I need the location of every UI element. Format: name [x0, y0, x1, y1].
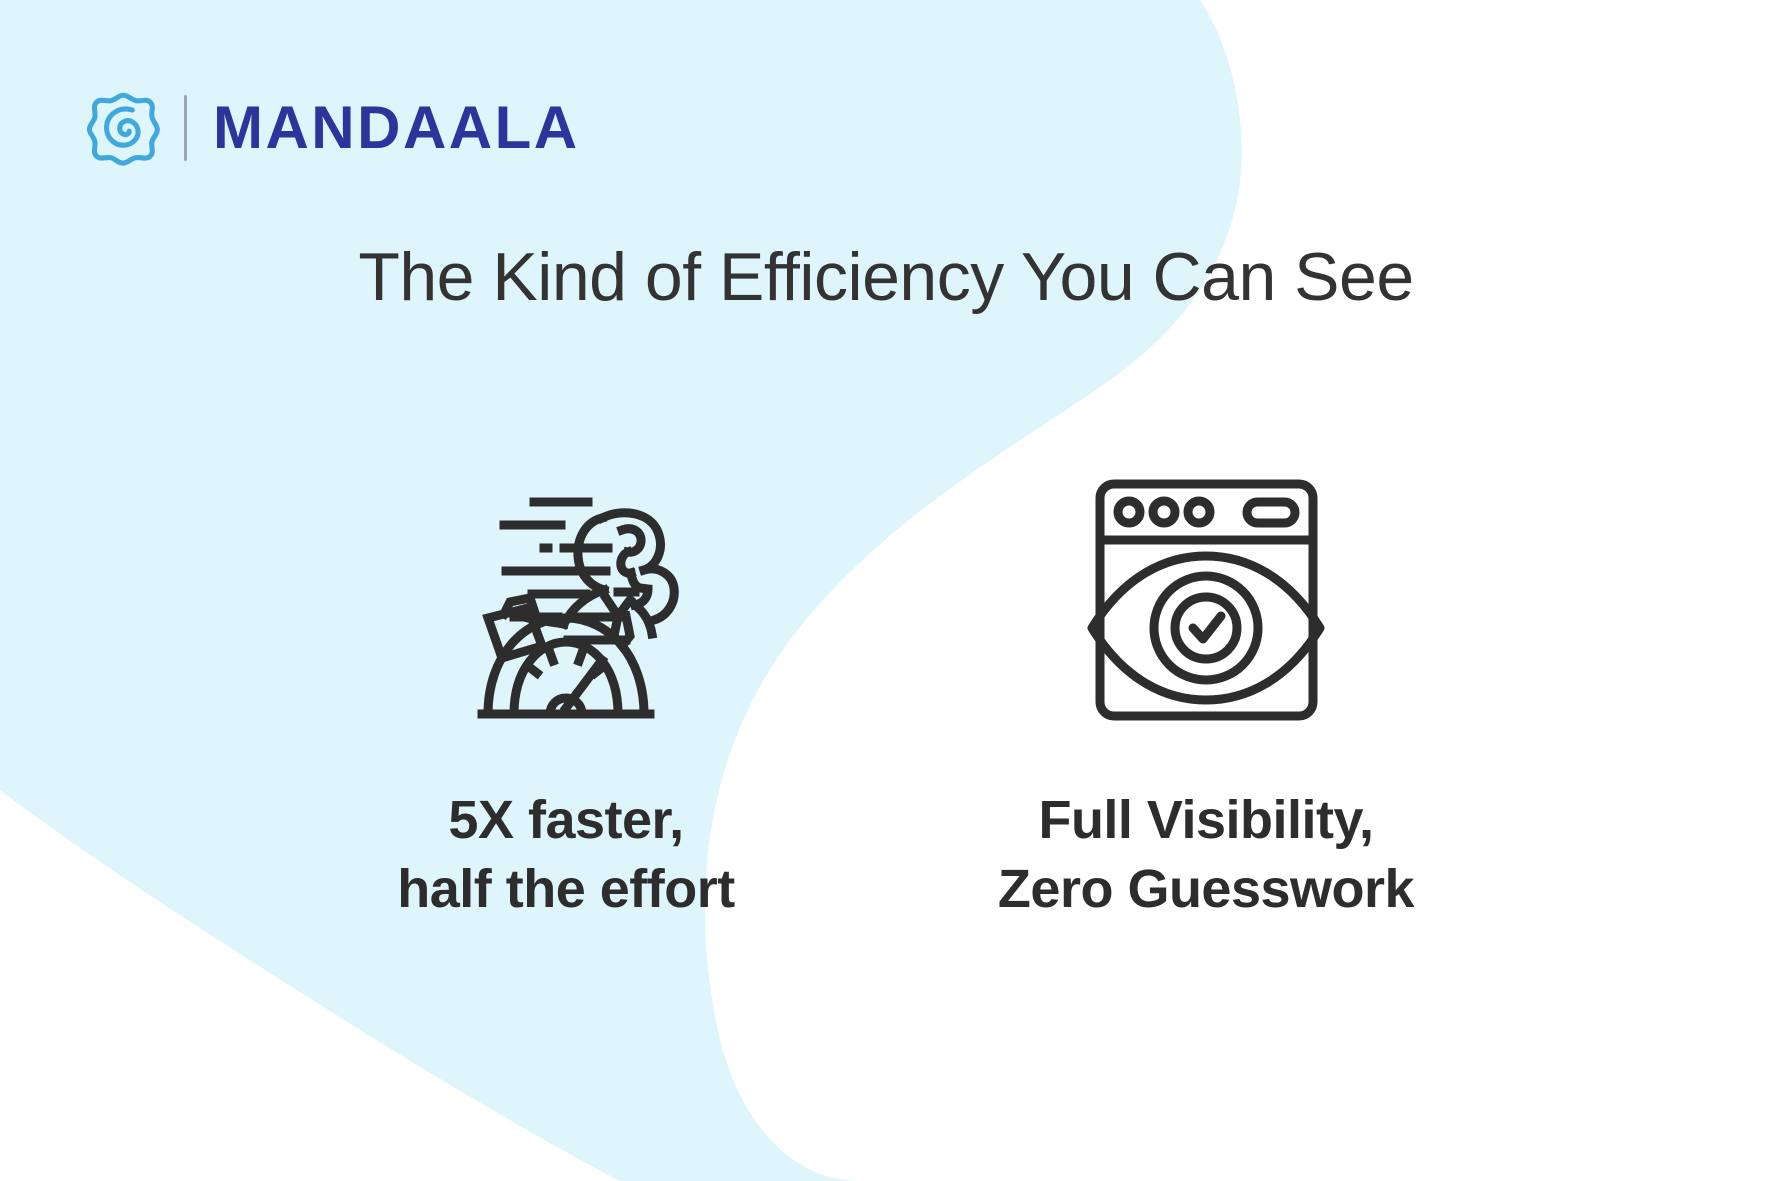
page-title: The Kind of Efficiency You Can See	[0, 240, 1772, 315]
speed-runner-speedometer-icon	[436, 470, 696, 730]
feature-caption-line-2: Zero Guesswork	[998, 855, 1414, 924]
feature-caption-speed: 5X faster, half the effort	[397, 786, 735, 924]
feature-card-visibility: Full Visibility, Zero Guesswork	[886, 470, 1526, 924]
washing-machine-eye-check-icon	[1084, 470, 1329, 730]
mandala-spiral-icon	[84, 89, 162, 167]
feature-caption-visibility: Full Visibility, Zero Guesswork	[998, 786, 1414, 924]
feature-caption-line-1: 5X faster,	[397, 786, 735, 855]
poster-canvas: MANDAALA The Kind of Efficiency You Can …	[0, 0, 1772, 1181]
features-row: 5X faster, half the effort	[0, 470, 1772, 924]
brand-divider	[184, 95, 187, 161]
feature-card-speed: 5X faster, half the effort	[246, 470, 886, 924]
brand-logo[interactable]: MANDAALA	[84, 82, 580, 174]
brand-name: MANDAALA	[213, 98, 580, 158]
feature-caption-line-2: half the effort	[397, 855, 735, 924]
feature-caption-line-1: Full Visibility,	[998, 786, 1414, 855]
